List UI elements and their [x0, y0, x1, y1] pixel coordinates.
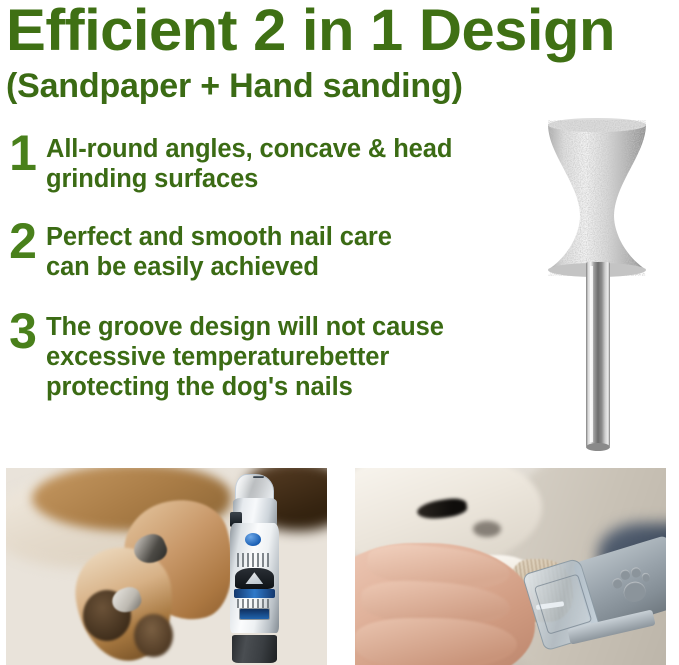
- nail-grinder-tool: [227, 474, 282, 663]
- feature-line: All-round angles, concave & head: [46, 134, 452, 164]
- infographic-page: Efficient 2 in 1 Design (Sandpaper + Han…: [0, 0, 679, 665]
- grinding-bit-image: [538, 118, 656, 453]
- photo-strip: [0, 468, 679, 665]
- bit-shank-highlight: [590, 266, 593, 442]
- dog-muzzle: [473, 521, 501, 537]
- feature-text-3: The groove design will not cause excessi…: [46, 306, 444, 402]
- tool-accent-stripe: [234, 589, 275, 598]
- hand-thumb: [355, 618, 517, 665]
- feature-list: 1 All-round angles, concave & head grind…: [0, 128, 520, 413]
- bit-shank-end: [586, 443, 610, 451]
- feature-line: excessive temperaturebetter: [46, 342, 444, 372]
- page-title: Efficient 2 in 1 Design: [6, 0, 615, 65]
- feature-number-1: 1: [0, 130, 46, 176]
- tool-brand-badge: [235, 568, 274, 589]
- feature-text-2: Perfect and smooth nail care can be easi…: [46, 216, 392, 282]
- tool-base-cap: [232, 635, 277, 663]
- tool-guard-slot: [537, 601, 565, 610]
- feature-line: The groove design will not cause: [46, 312, 444, 342]
- bit-shank: [586, 262, 610, 447]
- tool-vent-grille-top: [237, 553, 272, 566]
- dog-paws-with-grinder-photo: [6, 468, 327, 665]
- paw-pad-small: [134, 614, 173, 657]
- feature-text-1: All-round angles, concave & head grindin…: [46, 128, 452, 194]
- tool-indicator-window: [239, 608, 270, 619]
- grinding-dog-nail-photo: [355, 468, 666, 665]
- tool-cap-opening: [253, 476, 264, 478]
- page-subtitle: (Sandpaper + Hand sanding): [6, 66, 463, 107]
- tool-power-button: [245, 533, 261, 546]
- feature-line: grinding surfaces: [46, 164, 452, 194]
- tool-vent-grille-bottom: [237, 599, 272, 608]
- feature-item-3: 3 The groove design will not cause exces…: [0, 306, 520, 402]
- feature-line: protecting the dog's nails: [46, 372, 444, 402]
- feature-line: Perfect and smooth nail care: [46, 222, 392, 252]
- feature-number-3: 3: [0, 308, 46, 354]
- feature-number-2: 2: [0, 218, 46, 264]
- bit-grit-texture: [548, 120, 646, 276]
- feature-line: can be easily achieved: [46, 252, 392, 282]
- feature-item-2: 2 Perfect and smooth nail care can be ea…: [0, 216, 520, 282]
- feature-item-1: 1 All-round angles, concave & head grind…: [0, 128, 520, 194]
